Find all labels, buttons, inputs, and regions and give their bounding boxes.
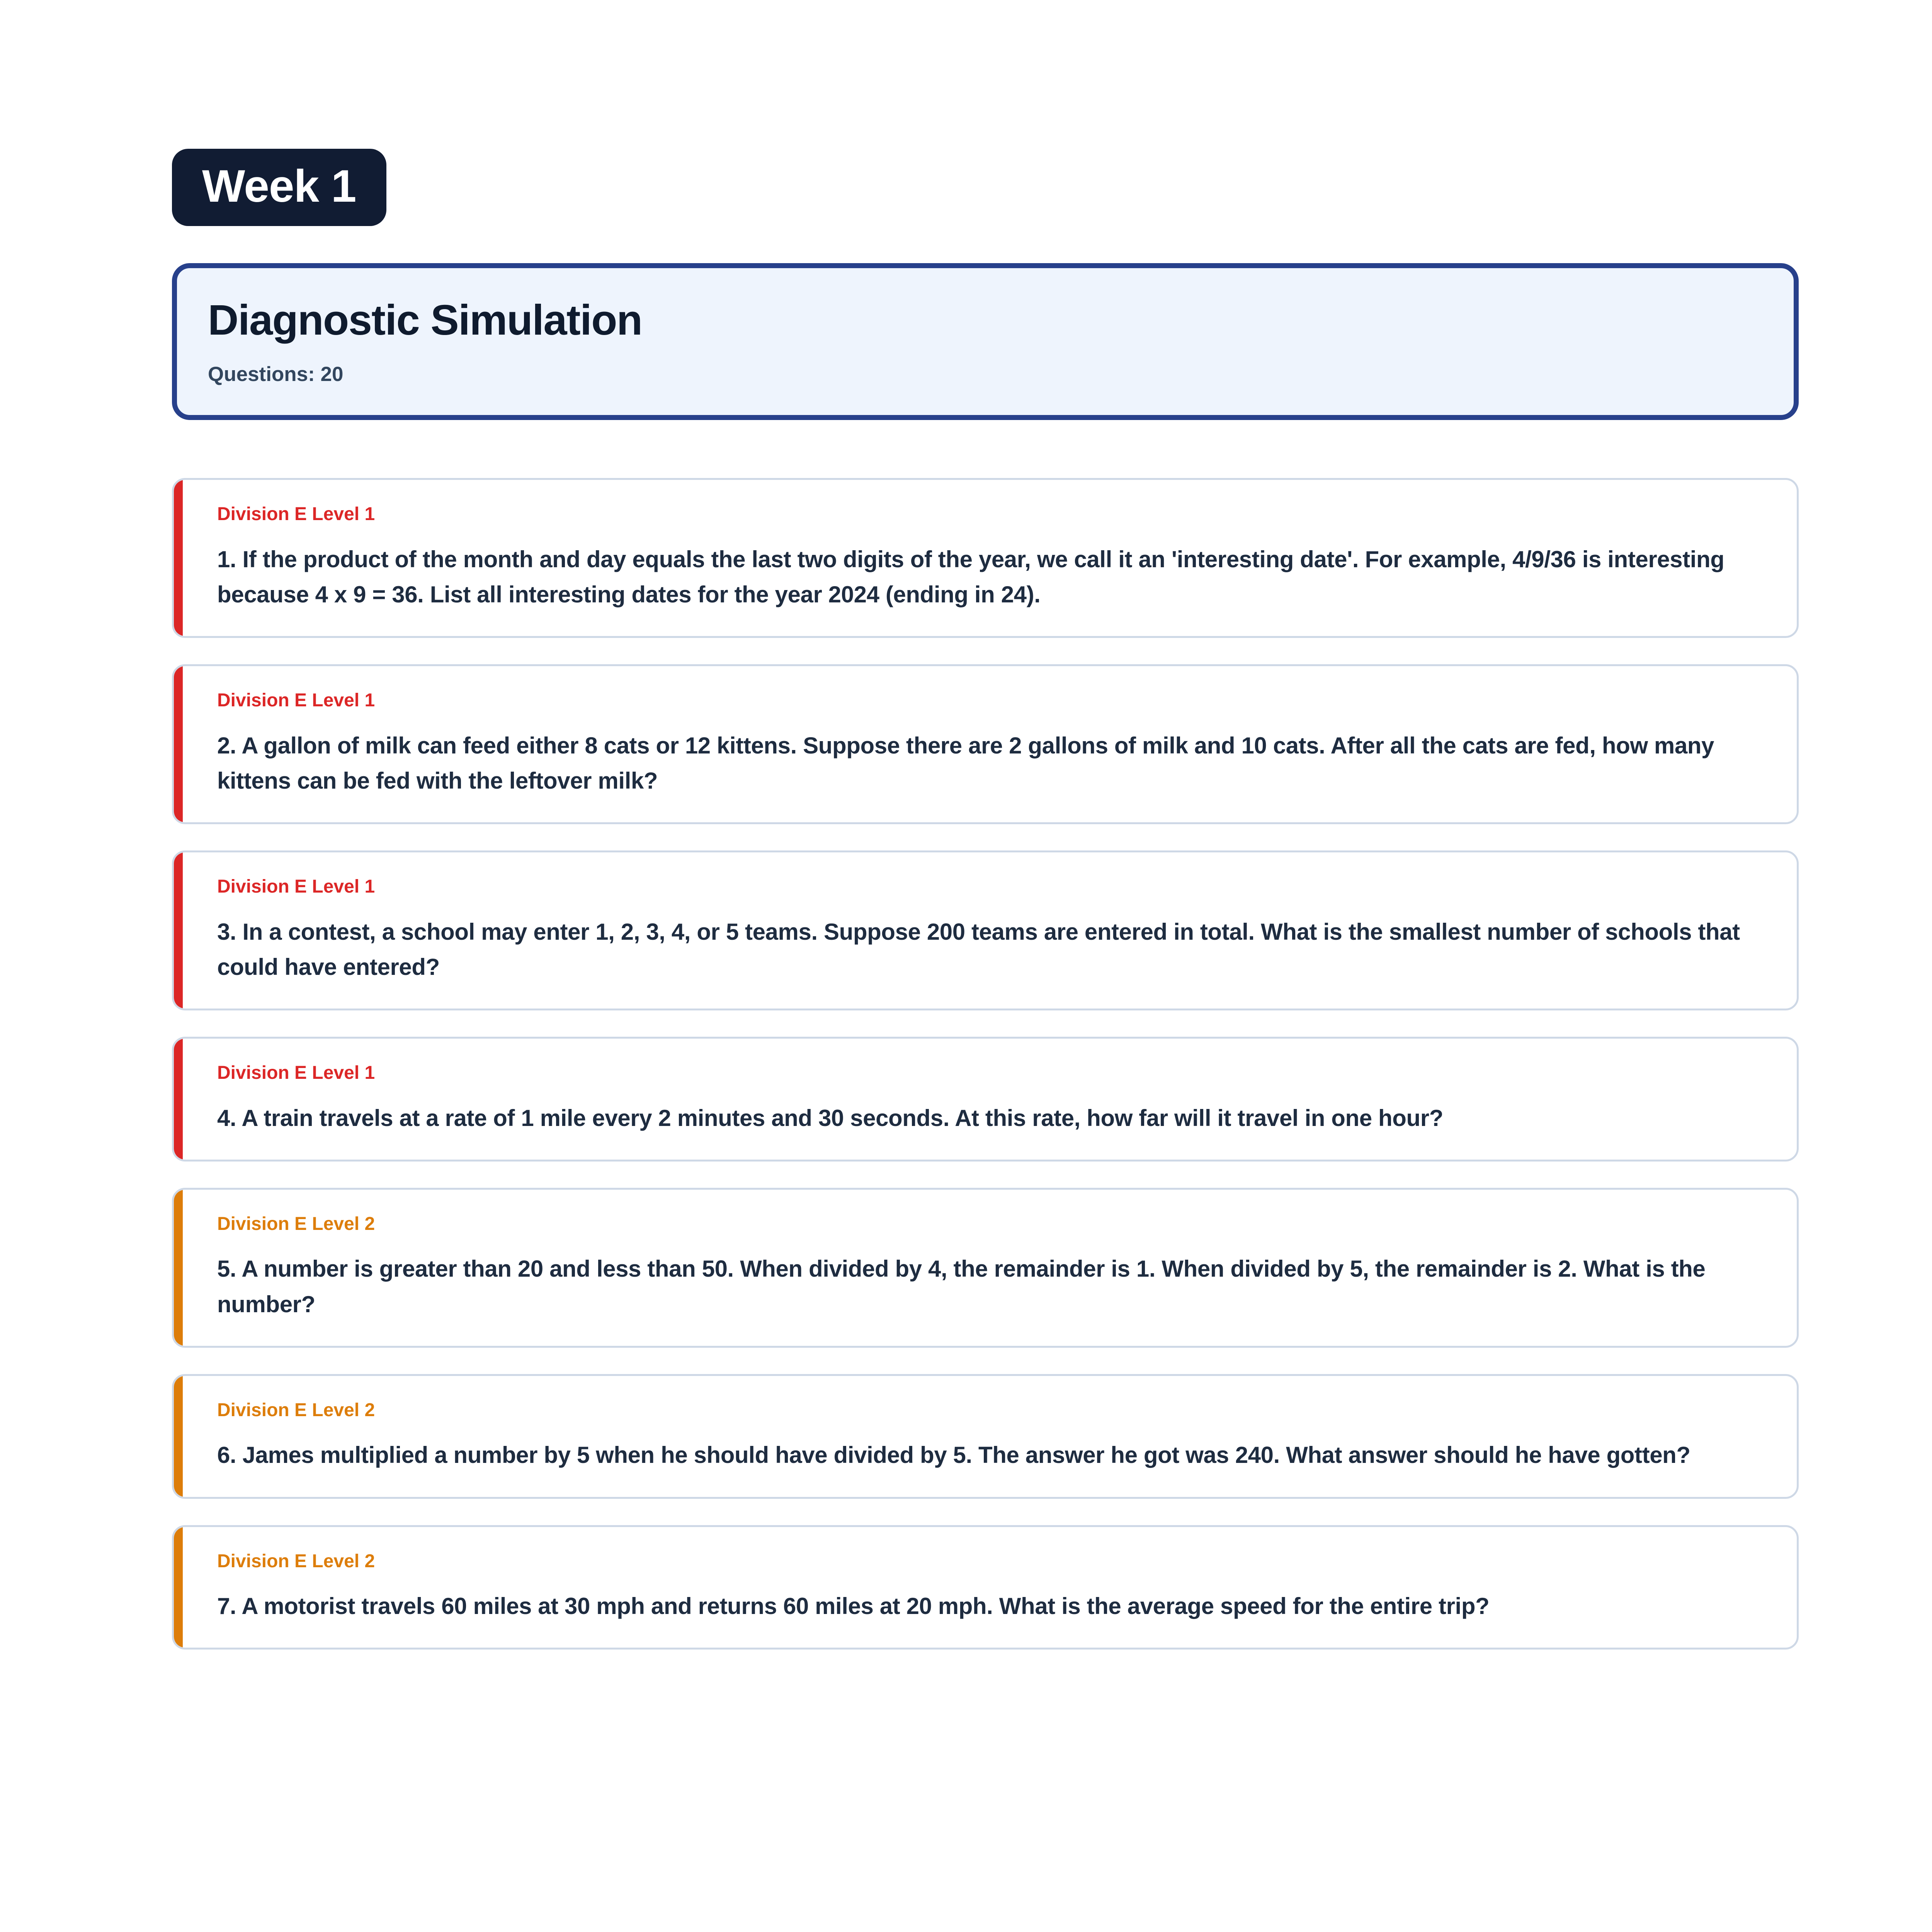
question-card[interactable]: Division E Level 11. If the product of t… (172, 478, 1799, 638)
question-level-label: Division E Level 1 (217, 876, 1763, 898)
worksheet-page: Week 1 Diagnostic Simulation Questions: … (0, 0, 1932, 1932)
question-card[interactable]: Division E Level 14. A train travels at … (172, 1037, 1799, 1162)
question-text: 7. A motorist travels 60 miles at 30 mph… (217, 1588, 1763, 1624)
question-list: Division E Level 11. If the product of t… (172, 478, 1799, 1650)
question-level-label: Division E Level 2 (217, 1550, 1763, 1573)
question-text: 4. A train travels at a rate of 1 mile e… (217, 1100, 1763, 1136)
question-level-label: Division E Level 1 (217, 689, 1763, 712)
question-card[interactable]: Division E Level 12. A gallon of milk ca… (172, 664, 1799, 824)
question-card[interactable]: Division E Level 13. In a contest, a sch… (172, 850, 1799, 1010)
question-level-label: Division E Level 2 (217, 1213, 1763, 1235)
question-card[interactable]: Division E Level 26. James multiplied a … (172, 1374, 1799, 1499)
diagnostic-header-card: Diagnostic Simulation Questions: 20 (172, 263, 1799, 420)
question-text: 3. In a contest, a school may enter 1, 2… (217, 914, 1763, 985)
page-title: Diagnostic Simulation (208, 296, 1763, 345)
question-text: 1. If the product of the month and day e… (217, 542, 1763, 612)
question-level-label: Division E Level 1 (217, 1062, 1763, 1084)
question-text: 6. James multiplied a number by 5 when h… (217, 1437, 1763, 1473)
question-level-label: Division E Level 2 (217, 1399, 1763, 1422)
question-level-label: Division E Level 1 (217, 503, 1763, 526)
question-text: 2. A gallon of milk can feed either 8 ca… (217, 728, 1763, 798)
question-card[interactable]: Division E Level 27. A motorist travels … (172, 1525, 1799, 1650)
week-badge: Week 1 (172, 149, 386, 226)
question-text: 5. A number is greater than 20 and less … (217, 1251, 1763, 1321)
question-card[interactable]: Division E Level 25. A number is greater… (172, 1188, 1799, 1348)
question-count-label: Questions: 20 (208, 362, 1763, 387)
